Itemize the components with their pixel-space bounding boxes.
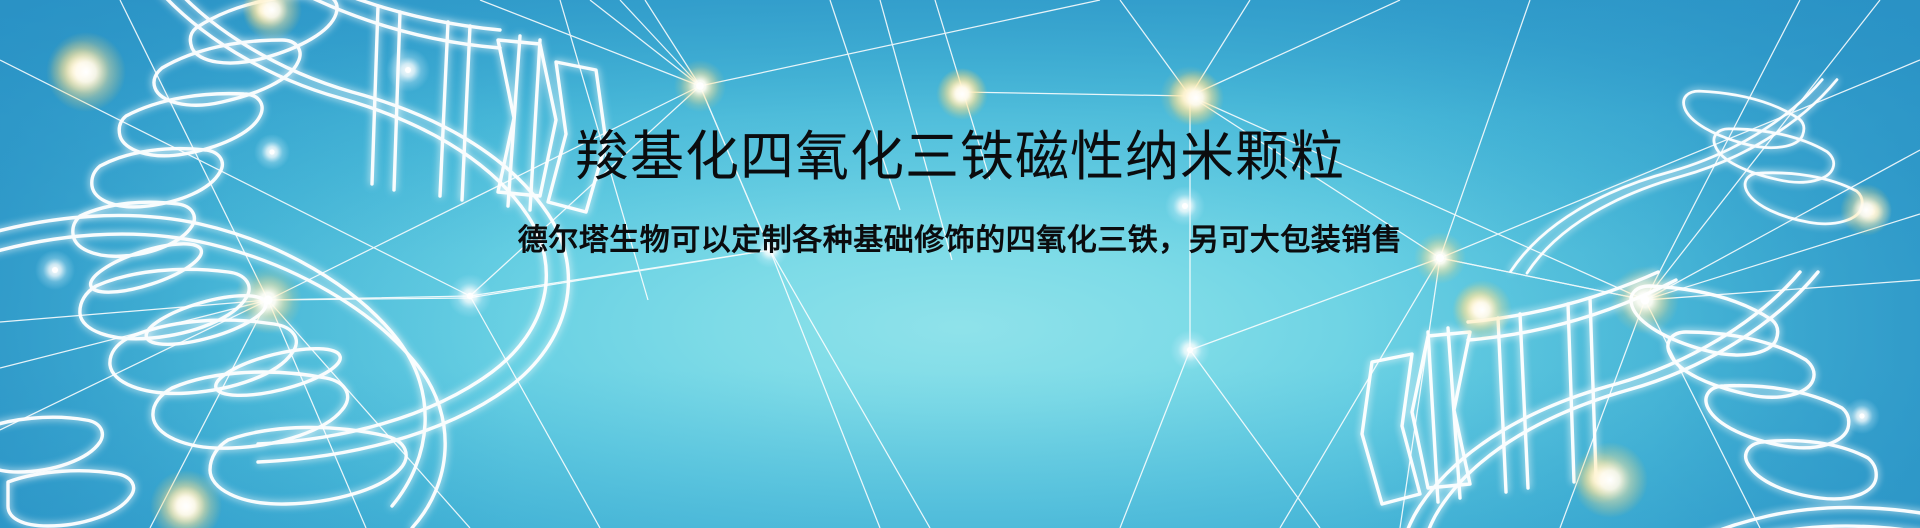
page-title: 羧基化四氧化三铁磁性纳米颗粒 bbox=[575, 128, 1345, 186]
page-subtitle: 德尔塔生物可以定制各种基础修饰的四氧化三铁，另可大包装销售 bbox=[518, 224, 1403, 257]
hero-banner: 羧基化四氧化三铁磁性纳米颗粒 德尔塔生物可以定制各种基础修饰的四氧化三铁，另可大… bbox=[0, 0, 1920, 528]
banner-content: 羧基化四氧化三铁磁性纳米颗粒 德尔塔生物可以定制各种基础修饰的四氧化三铁，另可大… bbox=[0, 0, 1920, 528]
